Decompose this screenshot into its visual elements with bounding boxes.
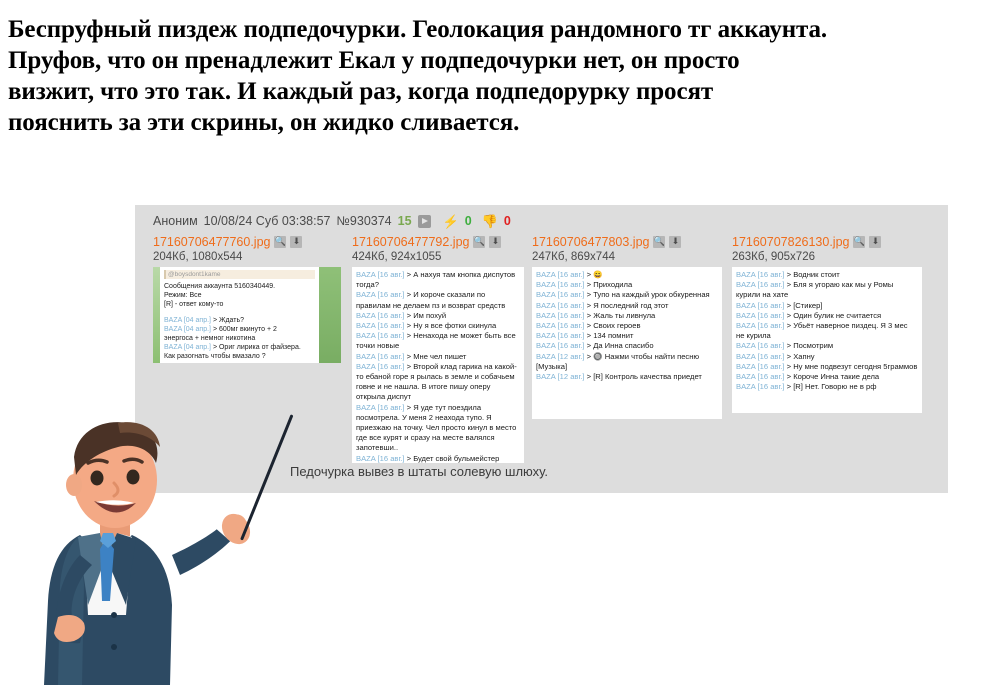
post-number[interactable]: №930374 <box>337 214 392 228</box>
message-item: BAZA [16 авг.] > Приходила <box>536 280 718 290</box>
message-item: BAZA [16 авг.] > Один булик не считается <box>736 311 918 321</box>
telegram-wallpaper-left <box>153 267 160 363</box>
attachment-2-filename[interactable]: 17160706477792.jpg <box>352 235 469 249</box>
post-header: Аноним 10/08/24 Суб 03:38:57 №930374 15 … <box>135 213 948 229</box>
thumb1-message: BAZA [04 апр.] > Ориг лирика от файзера. <box>164 343 315 352</box>
thumb1-info-line: [R] - ответ кому-то <box>164 300 315 309</box>
attachment-3-filename[interactable]: 17160706477803.jpg <box>532 235 649 249</box>
play-icon[interactable] <box>418 215 431 228</box>
message-list: BAZA [16 авг.] > Водник стоит BAZA [16 а… <box>732 267 922 413</box>
telegram-handle: @boysdont1kame <box>164 270 315 279</box>
message-item: BAZA [12 авг.] > 🔘 Нажми чтобы найти пес… <box>536 352 718 372</box>
upvote-count[interactable]: 0 <box>465 214 472 228</box>
thumb1-info-line: Режим: Все <box>164 291 315 300</box>
message-item: BAZA [16 авг.] > Водник стоит <box>736 270 918 280</box>
thumb1-message: BAZA [04 апр.] > 600мг вкинуто + 2 <box>164 325 315 334</box>
attachment-2-meta: 424Кб, 924x1055 <box>352 251 532 265</box>
teacher-illustration <box>22 405 292 685</box>
download-icon[interactable]: ⬇ <box>290 236 302 248</box>
post-date: 10/08/24 Суб 03:38:57 <box>204 214 331 228</box>
message-item: BAZA [16 авг.] > Я уде тут поездила посм… <box>356 403 520 454</box>
download-icon[interactable]: ⬇ <box>489 236 501 248</box>
teacher-figure-svg <box>22 405 292 685</box>
attachment-3-thumbnail[interactable]: BAZA [16 авг.] > 😄 BAZA [16 авг.] > Прих… <box>532 267 722 419</box>
lightning-icon[interactable]: ⚡ <box>443 215 459 228</box>
attachment-4-header: 17160707826130.jpg 🔍 ⬇ <box>732 234 932 249</box>
post-reply-count[interactable]: 15 <box>398 214 412 228</box>
message-item: BAZA [16 авг.] > Ну я все фотки скинула <box>356 321 520 331</box>
thumb1-message: энергоса + немног никотина <box>164 334 315 343</box>
thumbs-down-icon[interactable]: 👍 <box>482 215 498 228</box>
message-item: BAZA [16 авг.] > Посмотрим <box>736 341 918 351</box>
message-item: BAZA [12 авг.] > [R] Контроль качества п… <box>536 372 718 382</box>
attachment-3-header: 17160706477803.jpg 🔍 ⬇ <box>532 234 732 249</box>
message-item: BAZA [16 авг.] > Тупо на каждый урок обк… <box>536 290 718 300</box>
message-item: BAZA [16 авг.] > Я последний год этот <box>536 301 718 311</box>
telegram-wallpaper-right <box>319 267 341 363</box>
message-item: BAZA [16 авг.] > Жаль ты ливнула <box>536 311 718 321</box>
message-item: BAZA [16 авг.] > Ну мне подвезут сегодня… <box>736 362 918 372</box>
attachment-4-thumbnail[interactable]: BAZA [16 авг.] > Водник стоит BAZA [16 а… <box>732 267 922 413</box>
telegram-chat-body: @boysdont1kame Сообщения аккаунта 516034… <box>160 267 319 363</box>
attachment-1-filename[interactable]: 17160706477760.jpg <box>153 235 270 249</box>
headline-line-2: Пруфов, что он пренадлежит Екал у подпед… <box>8 45 968 76</box>
magnifier-icon[interactable]: 🔍 <box>653 236 665 248</box>
message-item: BAZA [16 авг.] > Бля я угораю как мы у Р… <box>736 280 918 300</box>
attachment-3: 17160706477803.jpg 🔍 ⬇ 247Кб, 869x744 BA… <box>532 234 732 463</box>
attachment-1-thumbnail[interactable]: @boysdont1kame Сообщения аккаунта 516034… <box>153 267 341 363</box>
message-item: BAZA [16 авг.] > Ненахода не может быть … <box>356 331 520 351</box>
message-item: BAZA [16 авг.] > [R] Нет. Говорю не в рф <box>736 382 918 392</box>
attachment-1-meta: 204Кб, 1080x544 <box>153 251 352 265</box>
magnifier-icon[interactable]: 🔍 <box>473 236 485 248</box>
magnifier-icon[interactable]: 🔍 <box>853 236 865 248</box>
attachment-4-filename[interactable]: 17160707826130.jpg <box>732 235 849 249</box>
attachment-2-thumbnail[interactable]: BAZA [16 авг.] > А нахуя там кнопка дисп… <box>352 267 524 463</box>
message-list: BAZA [16 авг.] > 😄 BAZA [16 авг.] > Прих… <box>532 267 722 419</box>
thumb1-message: BAZA [04 апр.] > Ждать? <box>164 316 315 325</box>
attachment-2-header: 17160706477792.jpg 🔍 ⬇ <box>352 234 532 249</box>
message-item: BAZA [16 авг.] > 😄 <box>536 270 718 280</box>
message-item: BAZA [16 авг.] > А нахуя там кнопка дисп… <box>356 270 520 290</box>
thumb1-info-line: Сообщения аккаунта 5160340449. <box>164 282 315 291</box>
message-item: BAZA [16 авг.] > Своих героев <box>536 321 718 331</box>
attachment-4-meta: 263Кб, 905x726 <box>732 251 932 265</box>
message-item: BAZA [16 авг.] > Им похуй <box>356 311 520 321</box>
downvote-count[interactable]: 0 <box>504 214 511 228</box>
attachment-1-header: 17160706477760.jpg 🔍 ⬇ <box>153 234 352 249</box>
post-author: Аноним <box>153 214 198 228</box>
thumb1-message: Как разогнать чтобы вмазало ? <box>164 352 315 361</box>
attachment-3-meta: 247Кб, 869x744 <box>532 251 732 265</box>
download-icon[interactable]: ⬇ <box>669 236 681 248</box>
headline-text: Беспруфный пиздеж подпедочурки. Геолокац… <box>8 14 968 138</box>
message-item: BAZA [16 авг.] > Мне чел пишет <box>356 352 520 362</box>
headline-line-1: Беспруфный пиздеж подпедочурки. Геолокац… <box>8 14 968 45</box>
message-item: BAZA [16 авг.] > Второй клад гарика на к… <box>356 362 520 403</box>
message-item: BAZA [16 авг.] > Убьёт наверное пиздец. … <box>736 321 918 341</box>
message-item: BAZA [16 авг.] > Хапну <box>736 352 918 362</box>
post-caption: Педочурка вывез в штаты солевую шлюху. <box>290 464 548 479</box>
message-item: BAZA [16 авг.] > [Стикер] <box>736 301 918 311</box>
message-item: BAZA [16 авг.] > Короче Инна такие дела <box>736 372 918 382</box>
download-icon[interactable]: ⬇ <box>869 236 881 248</box>
message-item: BAZA [16 авг.] > И короче сказали по пра… <box>356 290 520 310</box>
message-item: BAZA [16 авг.] > Да Инна спасибо <box>536 341 718 351</box>
message-list: BAZA [16 авг.] > А нахуя там кнопка дисп… <box>352 267 524 463</box>
attachment-4: 17160707826130.jpg 🔍 ⬇ 263Кб, 905x726 BA… <box>732 234 932 463</box>
attachment-2: 17160706477792.jpg 🔍 ⬇ 424Кб, 924x1055 B… <box>352 234 532 463</box>
message-item: BAZA [16 авг.] > Будет свой бульмейстер <box>356 454 520 463</box>
headline-line-4: пояснить за эти скрины, он жидко сливает… <box>8 107 968 138</box>
message-item: BAZA [16 авг.] > 134 помнит <box>536 331 718 341</box>
magnifier-icon[interactable]: 🔍 <box>274 236 286 248</box>
headline-line-3: визжит, что это так. И каждый раз, когда… <box>8 76 968 107</box>
